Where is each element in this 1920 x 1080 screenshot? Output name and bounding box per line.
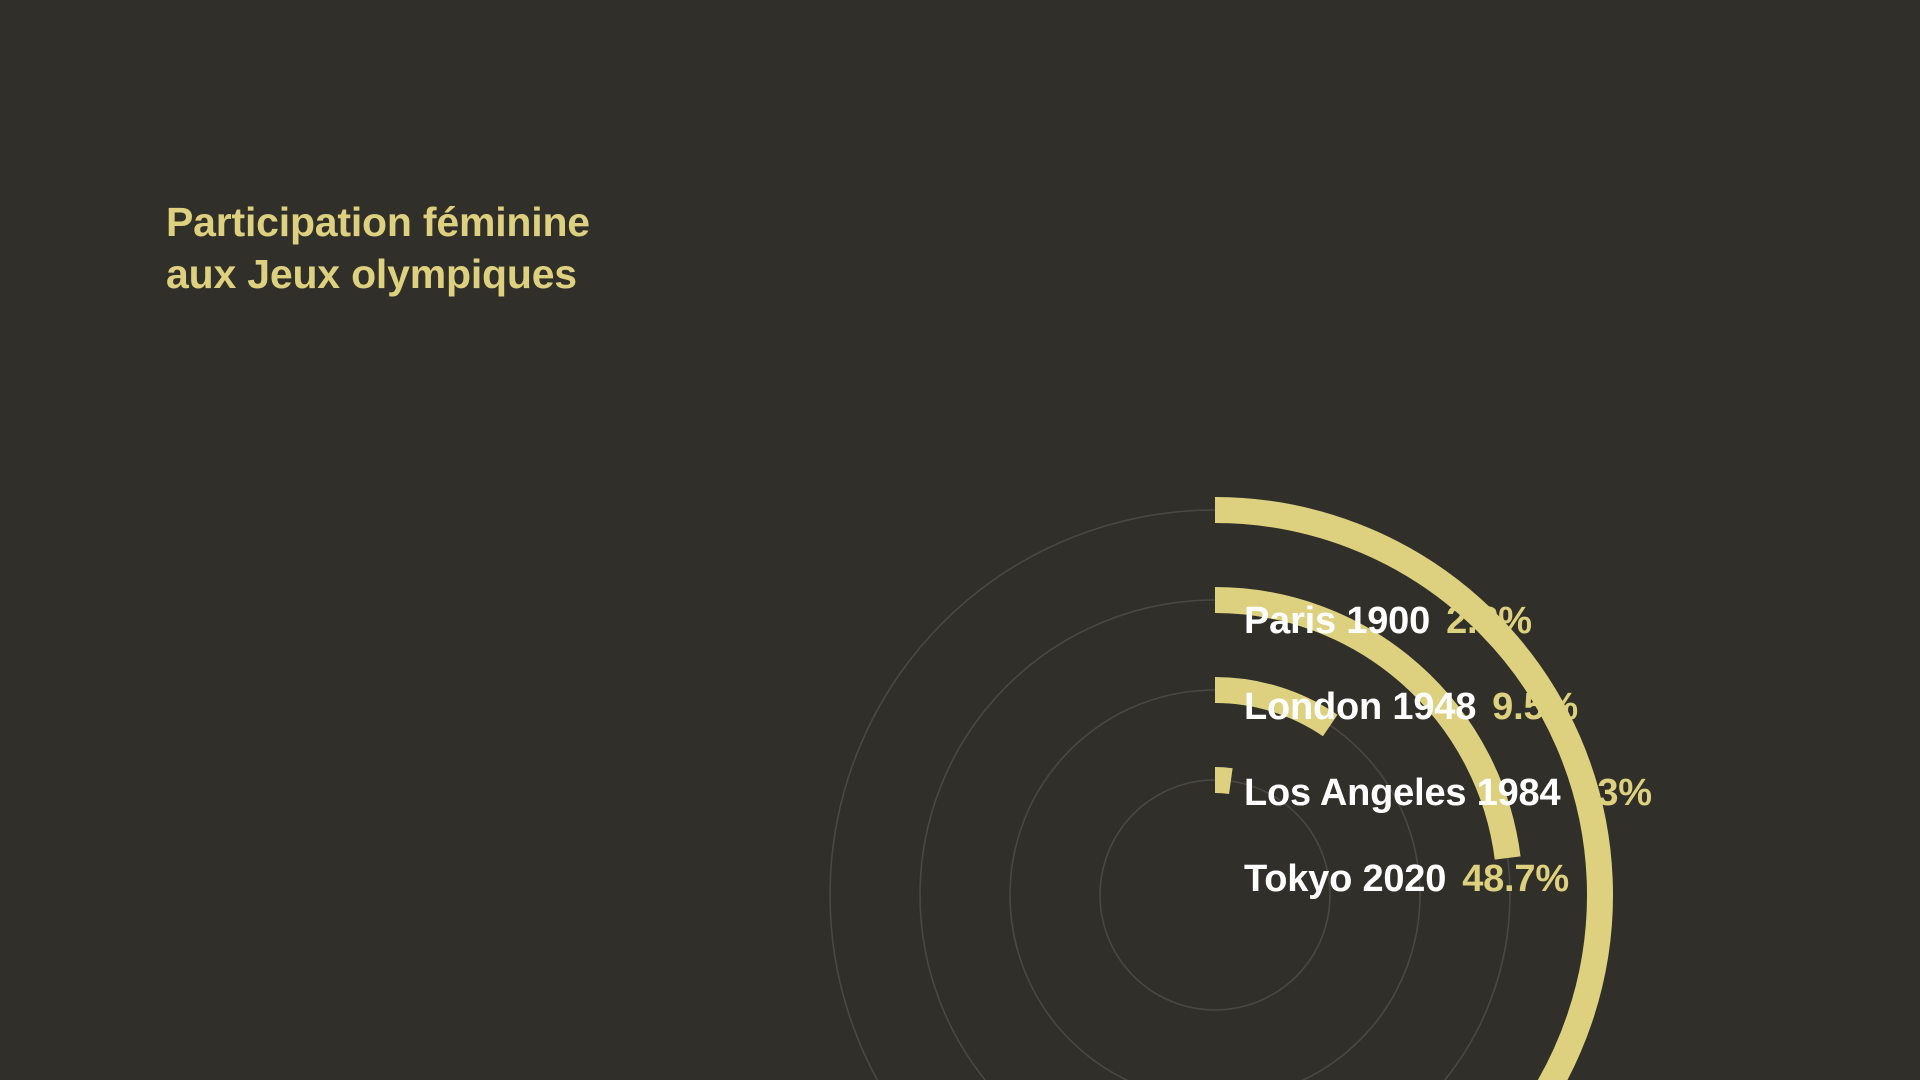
legend-value: 23% [1576,772,1651,815]
legend-value: 9.5% [1492,686,1578,729]
legend-label: Los Angeles 1984 [1244,772,1560,815]
legend-label: Paris 1900 [1244,600,1430,643]
legend-item-tokyo-2020[interactable]: Tokyo 2020 48.7% [1244,858,1884,944]
legend-value: 2.2% [1446,600,1532,643]
legend-item-paris-1900[interactable]: Paris 1900 2.2% [1244,600,1884,686]
legend-value: 48.7% [1462,858,1569,901]
legend-label: Tokyo 2020 [1244,858,1446,901]
value-arc-paris-1900[interactable] [1215,780,1231,781]
legend-item-los-angeles-1984[interactable]: Los Angeles 1984 23% [1244,772,1884,858]
slide-canvas: Participation féminine aux Jeux olympiqu… [0,0,1920,1080]
legend: Paris 1900 2.2% London 1948 9.5% Los Ang… [1244,600,1884,944]
legend-item-london-1948[interactable]: London 1948 9.5% [1244,686,1884,772]
legend-label: London 1948 [1244,686,1476,729]
